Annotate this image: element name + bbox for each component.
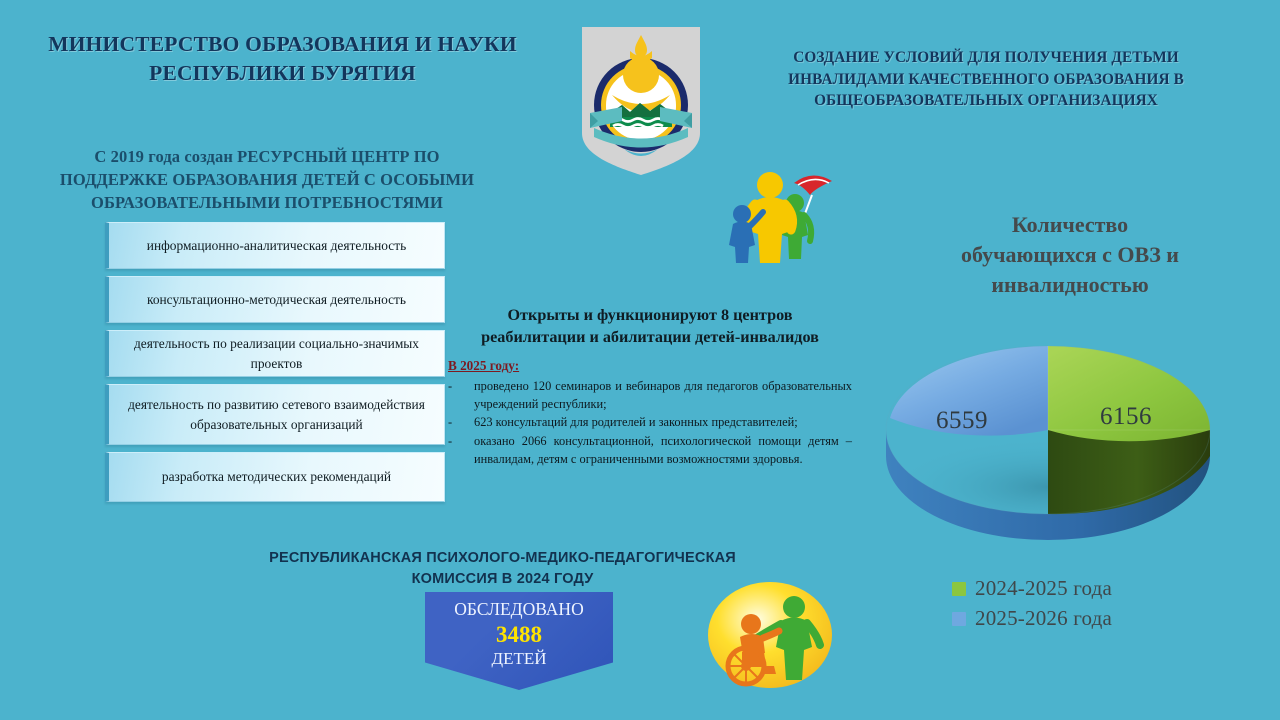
pie-chart: 6559 6156 xyxy=(862,322,1234,547)
family-with-kite-icon xyxy=(728,155,846,263)
centers-title: Открыты и функционируют 8 центров реабил… xyxy=(448,305,852,349)
legend-item: 2024-2025 года xyxy=(952,576,1112,601)
banner-number: 3488 xyxy=(425,621,613,649)
slide-topic-title: СОЗДАНИЕ УСЛОВИЙ ДЛЯ ПОЛУЧЕНИЯ ДЕТЬМИ ИН… xyxy=(726,47,1246,112)
legend-swatch-green xyxy=(952,582,966,596)
list-item: разработка методических рекомендаций xyxy=(105,452,445,502)
page-title: МИНИСТЕРСТВО ОБРАЗОВАНИЯ И НАУКИ РЕСПУБЛ… xyxy=(10,30,555,87)
resource-center-title: С 2019 года создан РЕСУРСНЫЙ ЦЕНТР ПО ПО… xyxy=(22,145,512,214)
resource-center-title-line1: С 2019 года создан РЕСУРСНЫЙ ЦЕНТР ПО xyxy=(22,145,512,168)
centers-bullet-list: - проведено 120 семинаров и вебинаров дл… xyxy=(448,378,852,469)
infographic-slide: МИНИСТЕРСТВО ОБРАЗОВАНИЯ И НАУКИ РЕСПУБЛ… xyxy=(0,0,1280,720)
topic-line1: СОЗДАНИЕ УСЛОВИЙ ДЛЯ ПОЛУЧЕНИЯ ДЕТЬМИ xyxy=(726,47,1246,69)
resource-center-title-line2: ПОДДЕРЖКЕ ОБРАЗОВАНИЯ ДЕТЕЙ С ОСОБЫМИ xyxy=(22,168,512,191)
banner-label-top: ОБСЛЕДОВАНО xyxy=(425,599,613,621)
chart-title-line2: обучающихся с ОВЗ и xyxy=(880,240,1260,270)
topic-line3: ОБЩЕОБРАЗОВАТЕЛЬНЫХ ОРГАНИЗАЦИЯХ xyxy=(726,90,1246,112)
pie-slice-value-blue: 6559 xyxy=(936,407,988,435)
pmpk-title-line2: КОМИССИЯ В 2024 ГОДУ xyxy=(255,569,750,590)
centers-title-line2: реабилитации и абилитации детей-инвалидо… xyxy=(448,327,852,349)
bullet-text: проведено 120 семинаров и вебинаров для … xyxy=(474,378,852,414)
bullet-text: оказано 2066 консультационной, психологи… xyxy=(474,433,852,469)
legend-swatch-blue xyxy=(952,612,966,626)
pmpk-title: РЕСПУБЛИКАНСКАЯ ПСИХОЛОГО-МЕДИКО-ПЕДАГОГ… xyxy=(255,548,750,590)
list-item: - проведено 120 семинаров и вебинаров дл… xyxy=(448,378,852,414)
centers-title-line1: Открыты и функционируют 8 центров xyxy=(448,305,852,327)
activity-label: деятельность по реализации социально-зна… xyxy=(125,334,428,372)
activity-label: разработка методических рекомендаций xyxy=(162,467,391,486)
legend-item: 2025-2026 года xyxy=(952,606,1112,631)
list-item: - 623 консультаций для родителей и закон… xyxy=(448,414,852,432)
banner-label-bottom: ДЕТЕЙ xyxy=(425,649,613,669)
topic-line2: ИНВАЛИДАМИ КАЧЕСТВЕННОГО ОБРАЗОВАНИЯ В xyxy=(726,69,1246,91)
year-label: В 2025 году: xyxy=(448,358,519,374)
bullet-marker: - xyxy=(448,414,474,432)
wheelchair-and-helper-icon xyxy=(706,580,834,690)
activity-label: консультационно-методическая деятельност… xyxy=(147,290,406,309)
resource-center-title-line3: ОБРАЗОВАТЕЛЬНЫМИ ПОТРЕБНОСТЯМИ xyxy=(22,191,512,214)
list-item: консультационно-методическая деятельност… xyxy=(105,276,445,323)
bullet-marker: - xyxy=(448,433,474,469)
coat-of-arms-buryatia-icon xyxy=(578,25,704,177)
pmpk-title-line1: РЕСПУБЛИКАНСКАЯ ПСИХОЛОГО-МЕДИКО-ПЕДАГОГ… xyxy=(255,548,750,569)
list-item: информационно-аналитическая деятельность xyxy=(105,222,445,269)
chart-title: Количество обучающихся с ОВЗ и инвалидно… xyxy=(880,210,1260,300)
activity-label: деятельность по развитию сетевого взаимо… xyxy=(125,395,428,433)
chart-title-line3: инвалидностью xyxy=(880,270,1260,300)
resource-center-activities-list: информационно-аналитическая деятельность… xyxy=(105,222,445,509)
bullet-marker: - xyxy=(448,378,474,414)
legend-label: 2025-2026 года xyxy=(975,606,1112,631)
status-badge: ОБСЛЕДОВАНО 3488 ДЕТЕЙ xyxy=(425,592,613,690)
activity-label: информационно-аналитическая деятельность xyxy=(147,236,406,255)
ministry-title-line1: МИНИСТЕРСТВО ОБРАЗОВАНИЯ И НАУКИ xyxy=(10,30,555,59)
ministry-title-line2: РЕСПУБЛИКИ БУРЯТИЯ xyxy=(10,59,555,88)
bullet-text: 623 консультаций для родителей и законны… xyxy=(474,414,852,432)
list-item: деятельность по реализации социально-зна… xyxy=(105,330,445,377)
pie-slice-value-green: 6156 xyxy=(1100,403,1152,431)
chart-legend: 2024-2025 года 2025-2026 года xyxy=(952,576,1112,636)
legend-label: 2024-2025 года xyxy=(975,576,1112,601)
rehabilitation-centers-block: Открыты и функционируют 8 центров реабил… xyxy=(448,305,852,470)
list-item: деятельность по развитию сетевого взаимо… xyxy=(105,384,445,445)
list-item: - оказано 2066 консультационной, психоло… xyxy=(448,433,852,469)
chart-title-line1: Количество xyxy=(880,210,1260,240)
